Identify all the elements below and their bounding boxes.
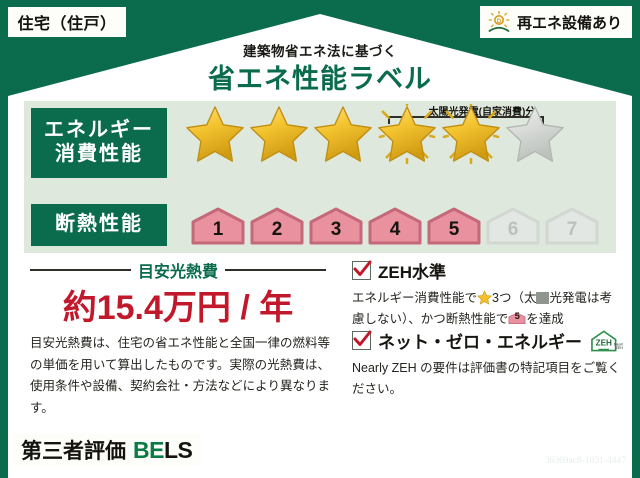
room-number: 101号室	[345, 440, 396, 460]
insulation-badge-empty: 6	[485, 207, 541, 245]
insulation-performance-row: 断熱性能	[31, 204, 167, 246]
bels-energy-label: 住宅（住戸） D 再エネ設備あり 建築物省エネ法に基づく 省エネ性能ラベル エネ…	[0, 0, 640, 478]
category-chip: 住宅（住戸）	[8, 7, 126, 37]
net-zero-energy-text: Nearly ZEH の要件は評価書の特記項目をご覧ください。	[352, 358, 624, 400]
insulation-badge-value: 5	[426, 219, 482, 241]
zeh-text-part4: を達成	[526, 312, 564, 326]
net-zero-energy-header: ネット・ゼロ・エネルギー ZEH Nearly ZEH	[352, 328, 624, 353]
evaluation-date-value: 2025年6月10日	[523, 433, 626, 450]
energy-label-line1: エネルギー	[44, 119, 154, 143]
star-filled-icon	[248, 104, 310, 164]
star-filled-icon	[312, 104, 374, 164]
svg-text:ZEH: ZEH	[616, 346, 623, 350]
renewable-chip-label: 再エネ設備あり	[517, 12, 622, 33]
inline-star-icon	[477, 290, 492, 305]
svg-text:ZEH: ZEH	[596, 338, 612, 347]
renewable-equipment-chip: D 再エネ設備あり	[480, 6, 632, 38]
star-filled-icon	[440, 104, 502, 164]
bels-logo-green: BE	[133, 437, 164, 463]
evaluation-date-label: 評価日	[473, 433, 518, 450]
redacted-mask	[536, 292, 549, 304]
insulation-badge-value: 4	[367, 219, 423, 241]
energy-star-rating	[184, 104, 566, 164]
insulation-badge-empty: 7	[544, 207, 600, 245]
zeh-text-part2: 3つ（太	[492, 291, 536, 305]
insulation-badge-achieved: 5	[426, 207, 482, 245]
utility-cost-heading: 目安光熱費	[30, 258, 326, 282]
star-filled-icon	[376, 104, 438, 164]
evaluation-date: 評価日 2025年6月10日	[473, 430, 626, 451]
zeh-standard-text: エネルギー消費性能で3つ（太光発電は考慮しない）、かつ断熱性能で5を達成	[352, 288, 624, 330]
net-zero-energy-block: ネット・ゼロ・エネルギー ZEH Nearly ZEH Nearly ZEH の…	[352, 328, 624, 400]
sun-icon: D	[486, 9, 512, 35]
net-zero-energy-checkbox[interactable]	[352, 331, 371, 350]
energy-performance-row: エネルギー 消費性能	[31, 108, 167, 178]
inline-insulation-badge: 5	[508, 311, 526, 324]
net-zero-energy-title: ネット・ゼロ・エネルギー	[378, 328, 582, 353]
insulation-badge-achieved: 1	[190, 207, 246, 245]
utility-cost-value: 約15.4万円 / 年	[30, 280, 326, 329]
insulation-badge-achieved: 4	[367, 207, 423, 245]
utility-cost-heading-label: 目安光熱費	[138, 258, 218, 282]
utility-cost-note: 目安光熱費は、住宅の省エネ性能と全国一律の燃料等の単価を用いて算出したものです。…	[30, 333, 330, 419]
building-name: サンセール問屋町 II	[218, 440, 342, 460]
document-id: 36369ac8-1031-4447	[545, 456, 626, 466]
zeh-standard-header: ZEH水準	[352, 258, 624, 283]
zeh-house-logo-icon: ZEH Nearly ZEH	[589, 329, 623, 353]
third-party-evaluation-chip: 第三者評価 BELS	[12, 434, 201, 466]
insulation-badge-value: 7	[544, 219, 600, 241]
page-title: 省エネ性能ラベル	[0, 57, 640, 96]
zeh-text-part1: エネルギー消費性能で	[352, 291, 477, 305]
svg-text:D: D	[497, 19, 502, 25]
check-icon	[351, 257, 373, 279]
insulation-badge-achieved: 3	[308, 207, 364, 245]
insulation-badge-value: 1	[190, 219, 246, 241]
heading-rule-left	[30, 269, 131, 271]
star-filled-icon	[184, 104, 246, 164]
zeh-standard-block: ZEH水準 エネルギー消費性能で3つ（太光発電は考慮しない）、かつ断熱性能で5を…	[352, 258, 624, 330]
insulation-badge-achieved: 2	[249, 207, 305, 245]
bels-logo: BELS	[133, 437, 192, 464]
insulation-performance-label: 断熱性能	[31, 204, 167, 246]
insulation-level-badges: 1234567	[190, 207, 600, 245]
bels-logo-black: LS	[164, 437, 192, 463]
star-empty-icon	[504, 104, 566, 164]
insulation-badge-value: 2	[249, 219, 305, 241]
heading-rule-right	[225, 269, 326, 271]
zeh-standard-title: ZEH水準	[378, 258, 446, 283]
insulation-badge-value: 6	[485, 219, 541, 241]
zeh-standard-checkbox[interactable]	[352, 261, 371, 280]
energy-label-line2: 消費性能	[55, 143, 143, 167]
evaluation-label: 第三者評価	[21, 435, 126, 465]
energy-performance-label: エネルギー 消費性能	[31, 108, 167, 178]
inline-badge-value: 5	[508, 309, 526, 324]
insulation-badge-value: 3	[308, 219, 364, 241]
check-icon	[351, 327, 373, 349]
